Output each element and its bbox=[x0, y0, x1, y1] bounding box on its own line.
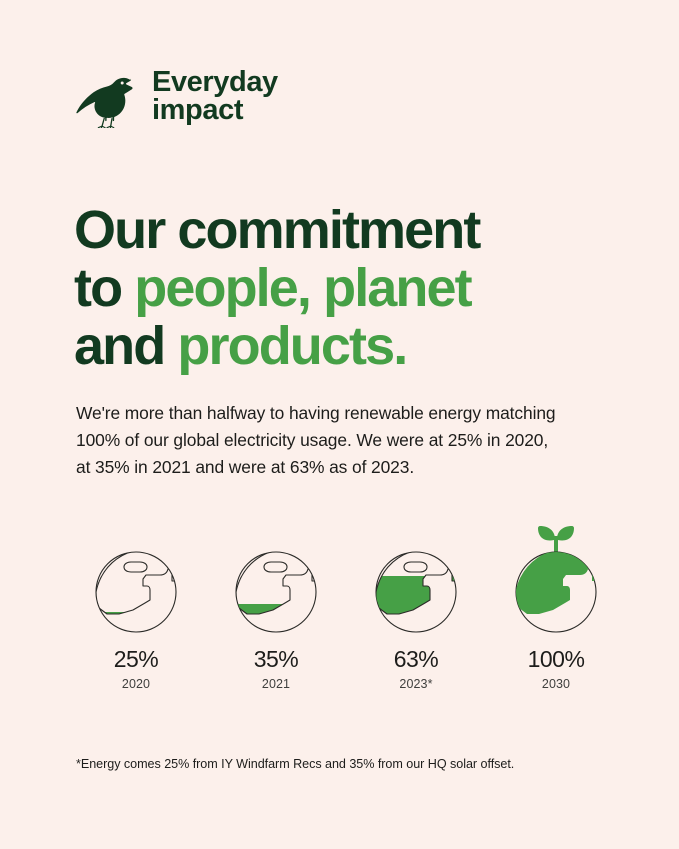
globe-item-2030: 100% 2030 bbox=[486, 506, 626, 691]
brand-name-line2: impact bbox=[152, 97, 278, 125]
bird-icon bbox=[76, 66, 138, 128]
brand-wordmark: Everyday impact bbox=[152, 69, 278, 124]
brand-logo: Everyday impact bbox=[76, 66, 278, 128]
globe-percent-label: 35% bbox=[254, 648, 299, 671]
globe-progression-chart: 25% 2020 bbox=[66, 506, 626, 691]
headline-line3-prefix: and bbox=[74, 316, 177, 376]
infographic-page: Everyday impact Our commitment to people… bbox=[0, 0, 679, 849]
globe-item-2023: 63% 2023* bbox=[346, 506, 486, 691]
headline-line1: Our commitment bbox=[74, 200, 479, 260]
headline-line2-accent: people, planet bbox=[134, 258, 470, 318]
globe-year-label: 2020 bbox=[122, 678, 150, 691]
globe-year-label: 2021 bbox=[262, 678, 290, 691]
headline-line2-prefix: to bbox=[74, 258, 134, 318]
globe-item-2021: 35% 2021 bbox=[206, 506, 346, 691]
globe-year-label: 2023* bbox=[399, 678, 432, 691]
globe-percent-label: 100% bbox=[528, 648, 585, 671]
globe-quarter-filled-icon bbox=[80, 506, 192, 636]
globe-third-filled-icon bbox=[220, 506, 332, 636]
headline-line3-accent: products. bbox=[177, 316, 406, 376]
brand-name-line1: Everyday bbox=[152, 69, 278, 97]
globe-full-filled-sprout-icon bbox=[500, 506, 612, 636]
globe-two-thirds-filled-icon bbox=[360, 506, 472, 636]
globe-year-label: 2030 bbox=[542, 678, 570, 691]
page-title: Our commitment to people, planet and pro… bbox=[74, 202, 614, 375]
globe-percent-label: 25% bbox=[114, 648, 159, 671]
globe-percent-label: 63% bbox=[394, 648, 439, 671]
body-paragraph: We're more than halfway to having renewa… bbox=[76, 400, 556, 480]
globe-item-2020: 25% 2020 bbox=[66, 506, 206, 691]
footnote: *Energy comes 25% from IY Windfarm Recs … bbox=[76, 757, 514, 771]
